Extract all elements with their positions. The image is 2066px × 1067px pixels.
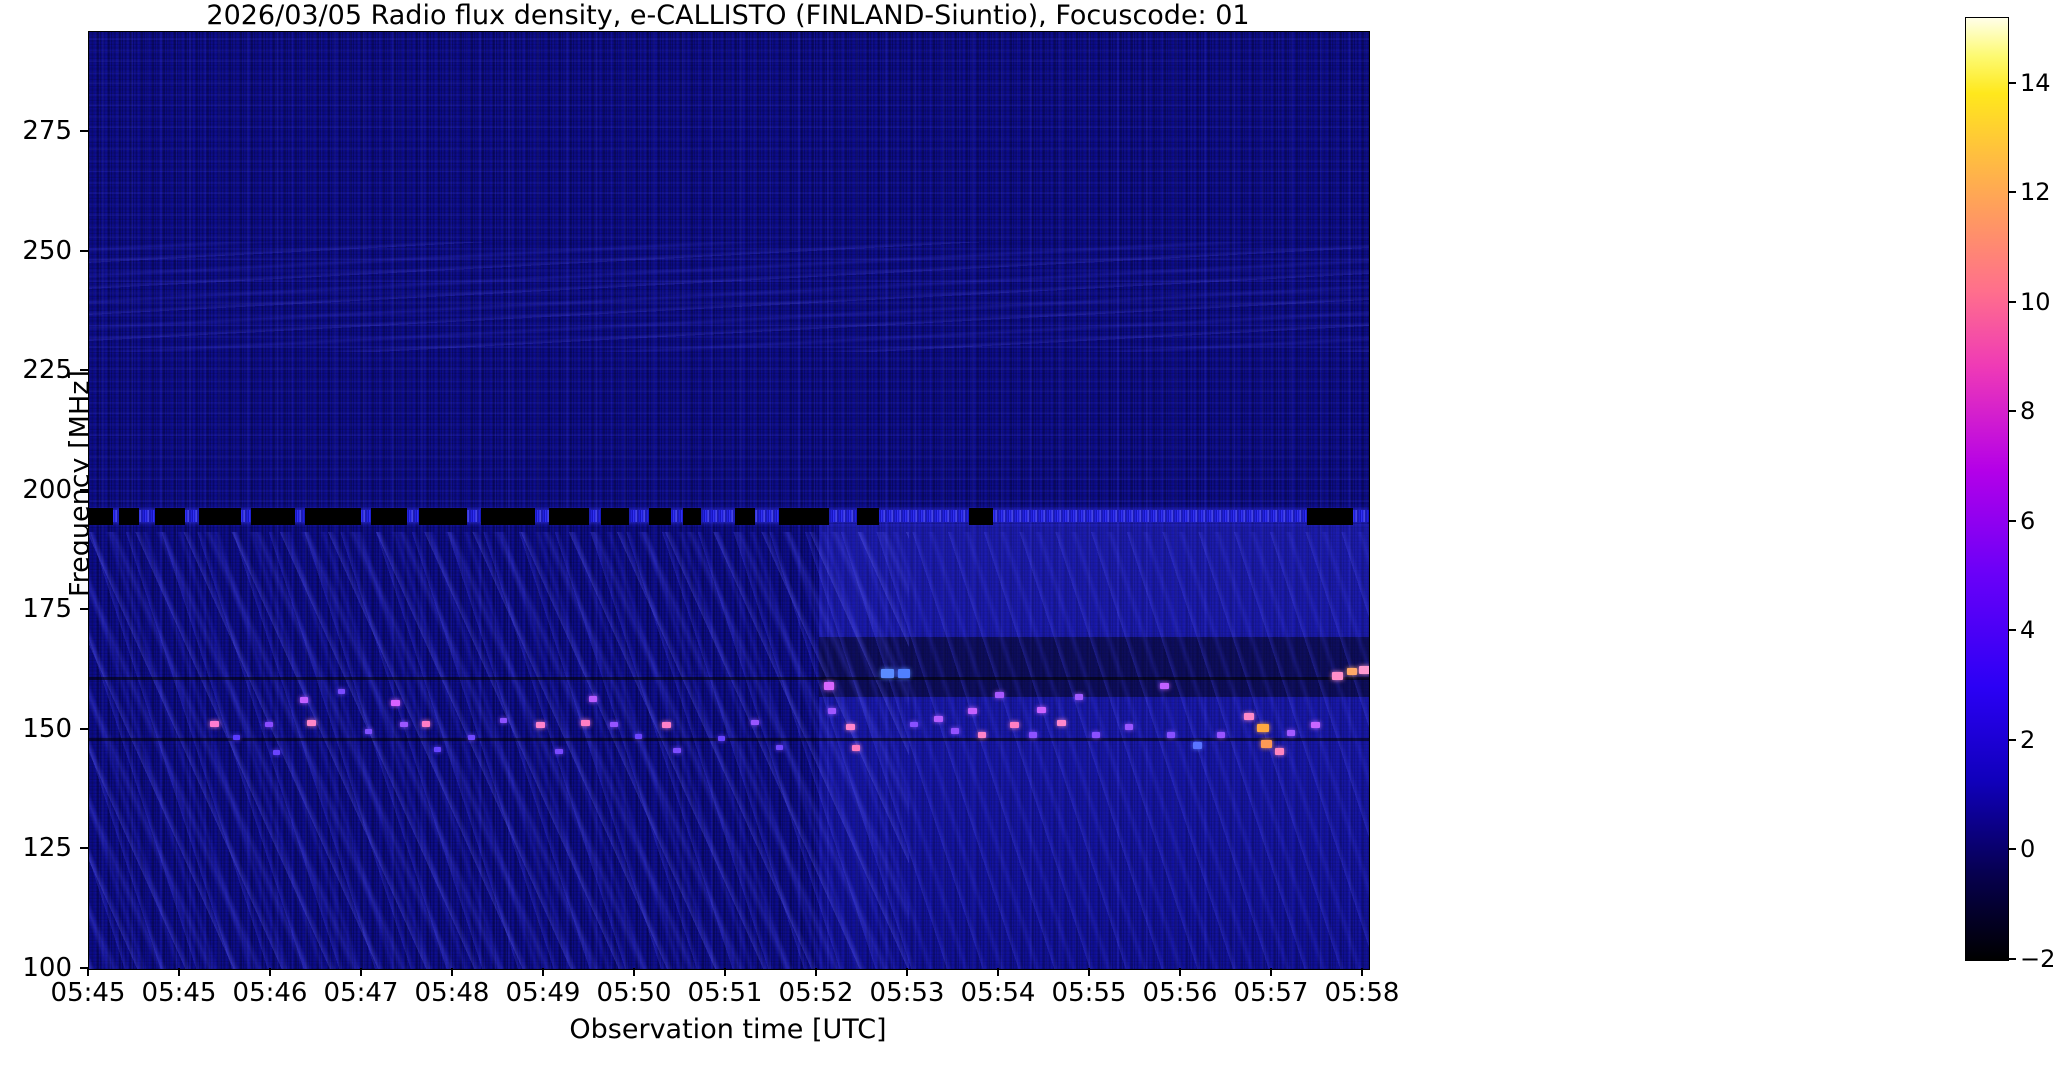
- colorbar[interactable]: [1965, 17, 2009, 961]
- colorbar-tick-mark: [2008, 301, 2016, 303]
- rfi-spot: [995, 692, 1004, 698]
- y-tick-label: 275: [0, 118, 72, 144]
- rfi-spot: [1287, 730, 1295, 736]
- spectrogram-plot-area[interactable]: [88, 31, 1370, 970]
- rfi-spot: [1037, 707, 1046, 713]
- y-tick-label: 200: [0, 477, 72, 503]
- y-tick-label: 150: [0, 716, 72, 742]
- dark-line-130mhz: [89, 677, 1369, 680]
- rfi-spot: [468, 735, 475, 740]
- x-tick-mark: [1270, 968, 1272, 976]
- rfi-spot: [391, 700, 400, 706]
- rfi-band-black-segment: [649, 508, 671, 525]
- rfi-band-black-segment: [481, 508, 535, 525]
- dark-line-112mhz: [89, 738, 1369, 741]
- rfi-spot: [210, 721, 219, 727]
- page-title: 2026/03/05 Radio flux density, e-CALLIST…: [88, 2, 1368, 30]
- rfi-spot: [1160, 683, 1169, 689]
- rfi-spot: [1057, 720, 1066, 726]
- x-tick-mark: [1179, 968, 1181, 976]
- y-tick-mark: [80, 489, 88, 491]
- rfi-spot: [951, 728, 959, 734]
- y-tick-label: 125: [0, 835, 72, 861]
- colorbar-tick-mark: [2008, 848, 2016, 850]
- rfi-spot: [233, 735, 240, 740]
- rfi-band-black-segment: [857, 508, 879, 525]
- colorbar-tick-mark: [2008, 958, 2016, 960]
- rfi-spot: [555, 749, 563, 754]
- x-tick-mark: [724, 968, 726, 976]
- rfi-band-black-segment: [683, 508, 701, 525]
- rfi-spot: [978, 732, 986, 738]
- rfi-spot: [1359, 666, 1370, 674]
- rfi-band-black-segment: [601, 508, 629, 525]
- rfi-spot: [828, 708, 836, 714]
- rfi-spot: [852, 745, 860, 751]
- rfi-spot: [1261, 740, 1272, 748]
- x-tick-mark: [87, 968, 89, 976]
- rfi-spot: [846, 724, 855, 730]
- rfi-spot: [881, 669, 894, 678]
- rfi-spot: [1029, 732, 1037, 738]
- rfi-band-black-segment: [1307, 508, 1353, 525]
- x-tick-mark: [997, 968, 999, 976]
- colorbar-tick-mark: [2008, 410, 2016, 412]
- rfi-spot: [1275, 748, 1284, 755]
- x-tick-mark: [633, 968, 635, 976]
- colorbar-tick-mark: [2008, 629, 2016, 631]
- rfi-band-black-segment: [89, 508, 113, 525]
- ripple-225mhz: [89, 242, 1369, 352]
- rfi-spot: [934, 716, 943, 722]
- rfi-spot: [265, 722, 273, 727]
- colorbar-tick-mark: [2008, 82, 2016, 84]
- colorbar-tick-mark: [2008, 191, 2016, 193]
- rfi-spot: [1347, 668, 1357, 675]
- rfi-spot: [1332, 672, 1343, 680]
- y-tick-mark: [80, 728, 88, 730]
- rfi-spot: [338, 689, 345, 694]
- rfi-spot: [1257, 724, 1269, 732]
- y-tick-mark: [80, 847, 88, 849]
- y-tick-label: 175: [0, 596, 72, 622]
- rfi-spot: [1167, 732, 1175, 738]
- x-axis-label: Observation time [UTC]: [88, 1014, 1368, 1045]
- x-tick-mark: [815, 968, 817, 976]
- rfi-spot: [968, 708, 977, 714]
- rfi-spot: [273, 750, 280, 755]
- diagonal-fringes-low-band-2: [89, 532, 909, 969]
- x-tick-mark: [451, 968, 453, 976]
- rfi-spot: [536, 722, 545, 728]
- rfi-spot: [1193, 742, 1202, 749]
- rfi-spot: [635, 734, 642, 739]
- rfi-spot: [898, 669, 910, 678]
- rfi-spot: [581, 720, 590, 726]
- rfi-spot: [589, 696, 597, 702]
- rfi-spot: [824, 682, 834, 690]
- rfi-spot: [1125, 724, 1133, 730]
- rfi-band-black-segment: [305, 508, 361, 525]
- rfi-spot: [662, 722, 671, 728]
- x-tick-mark: [178, 968, 180, 976]
- x-tick-mark: [360, 968, 362, 976]
- y-tick-label: 225: [0, 357, 72, 383]
- rfi-spot: [434, 747, 441, 752]
- x-tick-mark: [542, 968, 544, 976]
- rfi-band-black-segment: [155, 508, 185, 525]
- rfi-spot: [422, 721, 430, 727]
- rfi-band-black-segment: [735, 508, 755, 525]
- rfi-band-black-segment: [779, 508, 829, 525]
- rfi-spot: [365, 729, 372, 734]
- spectrogram-figure: 2026/03/05 Radio flux density, e-CALLIST…: [0, 0, 2066, 1067]
- rfi-spot: [1010, 722, 1019, 728]
- colorbar-tick-mark: [2008, 520, 2016, 522]
- y-tick-mark: [80, 250, 88, 252]
- rfi-spot: [400, 722, 408, 727]
- rfi-band-black-segment: [251, 508, 295, 525]
- y-tick-label: 250: [0, 238, 72, 264]
- rfi-band-black-segment: [371, 508, 407, 525]
- rfi-spot: [1217, 732, 1225, 738]
- rfi-spot: [1244, 713, 1254, 720]
- rfi-spot: [500, 718, 507, 723]
- rfi-spot: [718, 736, 725, 741]
- colorbar-label-wrap: dB above background: [2030, 0, 2066, 1000]
- y-tick-mark: [80, 130, 88, 132]
- rfi-spot: [673, 748, 681, 753]
- rfi-spot: [910, 722, 918, 727]
- rfi-spot: [751, 720, 759, 725]
- x-tick-mark: [269, 968, 271, 976]
- y-tick-mark: [80, 608, 88, 610]
- rfi-band-black-segment: [549, 508, 589, 525]
- rfi-spot: [610, 722, 618, 727]
- rfi-spot: [1075, 694, 1083, 700]
- rfi-spot: [307, 720, 316, 726]
- rfi-spot: [300, 697, 308, 703]
- rfi-band-black-segment: [199, 508, 241, 525]
- x-tick-mark: [906, 968, 908, 976]
- rfi-band-black-segment: [119, 508, 139, 525]
- x-tick-mark: [1088, 968, 1090, 976]
- x-tick-label: 05:58: [1292, 978, 1432, 1008]
- colorbar-tick-mark: [2008, 739, 2016, 741]
- rfi-spot: [1311, 722, 1320, 728]
- rfi-spot: [1092, 732, 1100, 738]
- rfi-band-black-segment: [969, 508, 993, 525]
- rfi-spot: [776, 745, 783, 750]
- x-tick-mark: [1361, 968, 1363, 976]
- rfi-band-black-segment: [419, 508, 467, 525]
- y-tick-mark: [80, 369, 88, 371]
